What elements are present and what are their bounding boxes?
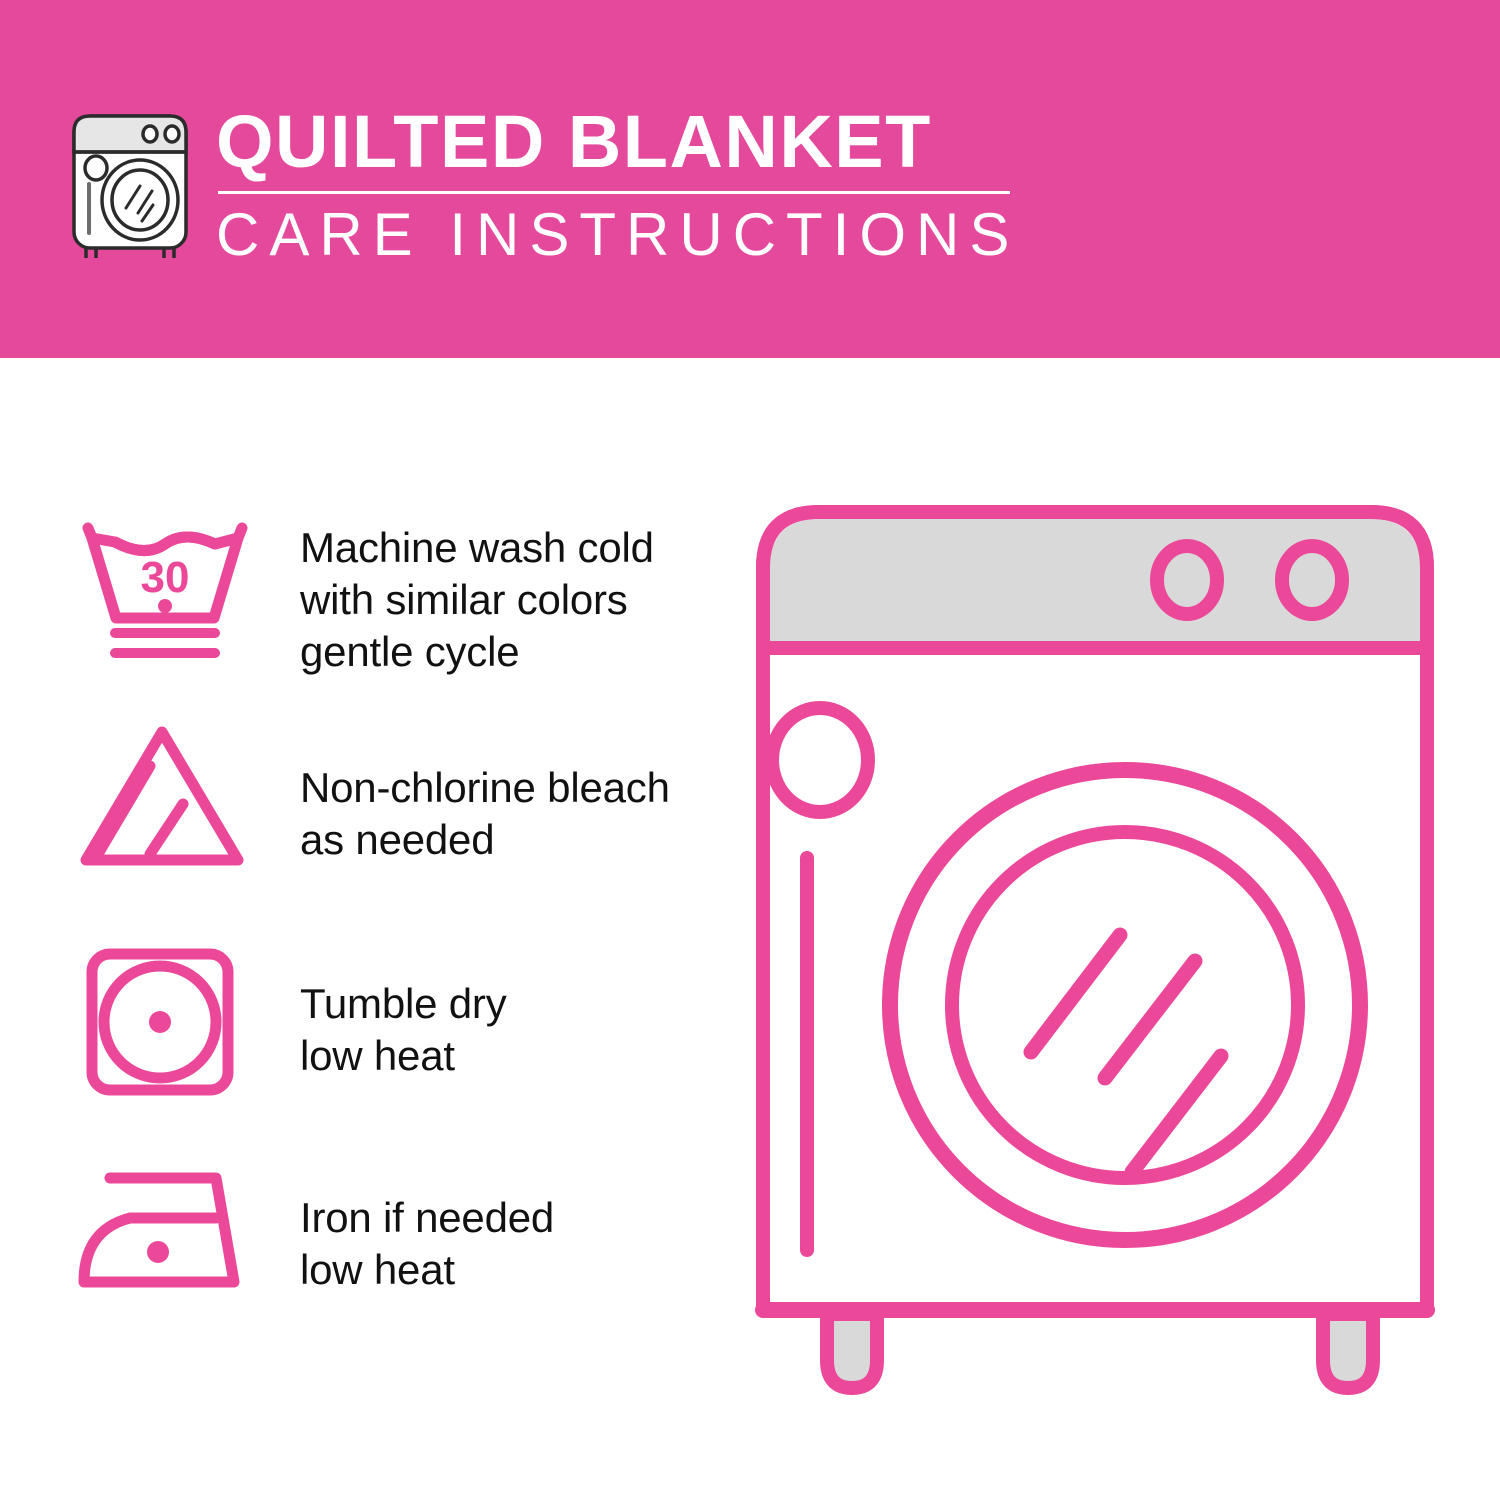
tumble-dry-low-icon [70, 940, 260, 1115]
page-title: QUILTED BLANKET [216, 100, 1016, 184]
instruction-item-bleach: Non-chlorine bleach as needed [60, 720, 720, 940]
svg-text:30: 30 [141, 553, 190, 602]
instruction-item-iron: Iron if needed low heat [60, 1160, 720, 1380]
header-banner: QUILTED BLANKET CARE INSTRUCTIONS [0, 0, 1500, 358]
instruction-text: Tumble dry low heat [300, 978, 507, 1082]
washing-machine-icon [60, 108, 200, 258]
instruction-text: Iron if needed low heat [300, 1192, 554, 1296]
page-subtitle: CARE INSTRUCTIONS [216, 200, 1016, 270]
title-divider [218, 191, 1010, 194]
header-text-block: QUILTED BLANKET CARE INSTRUCTIONS [216, 100, 1016, 270]
instruction-item-tumble-dry: Tumble dry low heat [60, 940, 720, 1160]
wash-tub-30-icon: 30 [70, 500, 260, 675]
front-load-washing-machine-illustration [735, 480, 1455, 1430]
instruction-item-wash: 30 Machine wash cold with similar colors… [60, 500, 720, 720]
iron-low-heat-icon [70, 1160, 260, 1335]
care-instructions-page: QUILTED BLANKET CARE INSTRUCTIONS 30 Mac… [0, 0, 1500, 1500]
instruction-text: Machine wash cold with similar colors ge… [300, 522, 654, 678]
instruction-list: 30 Machine wash cold with similar colors… [60, 500, 720, 1380]
non-chlorine-bleach-triangle-icon [70, 720, 260, 895]
instruction-text: Non-chlorine bleach as needed [300, 762, 670, 866]
